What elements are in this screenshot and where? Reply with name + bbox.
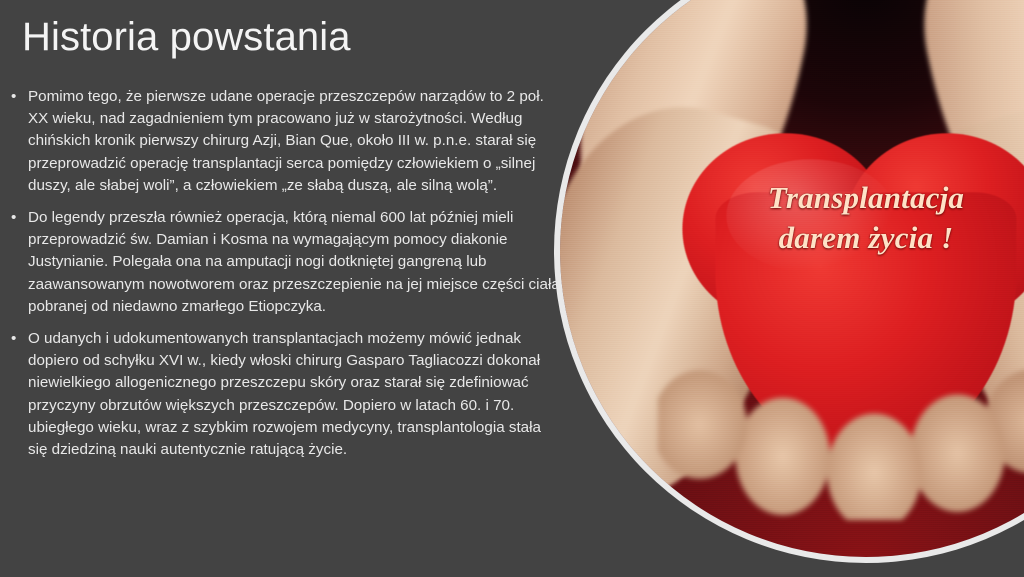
list-item-text: Pomimo tego, że pierwsze udane operacje …: [28, 86, 564, 197]
list-item-text: O udanych i udokumentowanych transplanta…: [28, 328, 564, 461]
bullet-marker-icon: •: [11, 328, 16, 350]
list-item: • Do legendy przeszła również operacja, …: [8, 207, 564, 318]
list-item-text: Do legendy przeszła również operacja, kt…: [28, 207, 564, 318]
bullet-marker-icon: •: [11, 86, 16, 108]
photo-circle: Transplantacja darem życia ! Przygotowa …: [560, 0, 1024, 557]
bullet-list: • Pomimo tego, że pierwsze udane operacj…: [8, 86, 564, 461]
list-item: • O udanych i udokumentowanych transplan…: [8, 328, 564, 461]
slide: Transplantacja darem życia ! Przygotowa …: [0, 0, 1024, 577]
list-item: • Pomimo tego, że pierwsze udane operacj…: [8, 86, 564, 197]
page-title: Historia powstania: [22, 14, 351, 60]
content-column: Historia powstania • Pomimo tego, że pie…: [0, 0, 570, 577]
bullet-marker-icon: •: [11, 207, 16, 229]
